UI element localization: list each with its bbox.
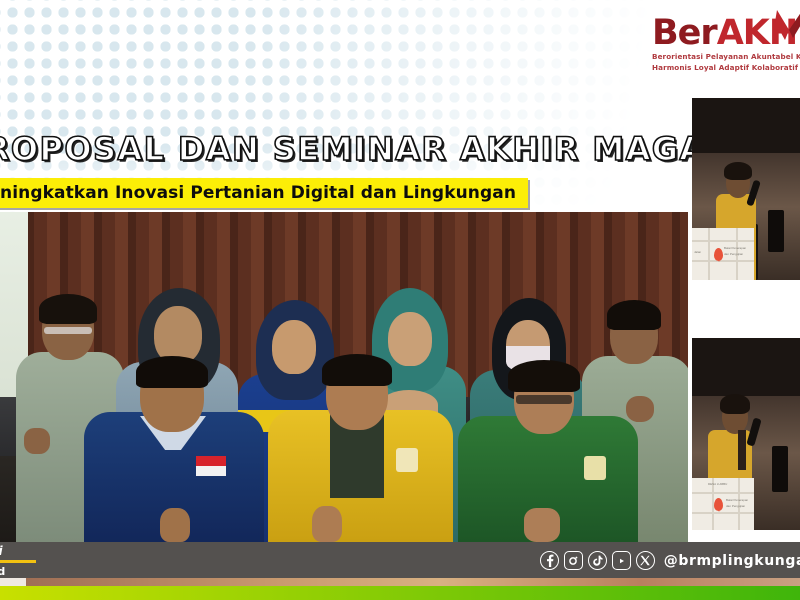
side-photo-top: Balai Penerapan dan Pengujian Jalan — [692, 98, 800, 280]
map-road — [692, 260, 754, 262]
person-7-thumbs-up — [160, 508, 190, 542]
side-photo-top-speaker-box — [768, 210, 784, 252]
person-1-fist — [24, 428, 50, 454]
youtube-icon[interactable] — [612, 551, 631, 570]
person-8-hair — [322, 354, 392, 386]
person-9-glasses — [516, 395, 572, 404]
person-7-hair — [136, 356, 208, 388]
map-pin-icon — [714, 498, 723, 511]
tiktok-icon[interactable] — [588, 551, 607, 570]
person-9-hair — [508, 360, 580, 392]
red-check-accent-icon — [775, 8, 800, 42]
map-road — [692, 512, 754, 514]
side-photo-top-upper-wall — [692, 98, 800, 153]
x-twitter-icon[interactable] — [636, 551, 655, 570]
footer-left-block: Hati go.id — [0, 544, 36, 578]
map-thumbnail-top: Balai Penerapan dan Pengujian Jalan — [692, 228, 754, 280]
person-9-hand-sign — [524, 508, 560, 542]
footer-tagline: Hati — [0, 544, 36, 558]
person-1-glasses — [44, 327, 92, 334]
person-9-logo-patch — [584, 456, 606, 480]
footer-warm-strip — [0, 578, 800, 586]
logo-tagline-line2: Harmonis Loyal Adaptif Kolaboratif — [652, 63, 800, 72]
map-label: dan Pengujian — [724, 252, 743, 256]
person-6-hair — [607, 300, 661, 330]
map-label: DESA LUMBU — [708, 482, 727, 486]
social-icon-row[interactable]: @brmplingkunga — [540, 551, 800, 570]
person-7-flag-patch — [196, 456, 226, 476]
footer-green-bar — [0, 586, 800, 600]
map-label: Balai Penerapan — [724, 246, 746, 250]
facebook-icon[interactable] — [540, 551, 559, 570]
subtitle-text: ningkatkan Inovasi Pertanian Digital dan… — [0, 183, 516, 203]
group-photo — [0, 212, 688, 542]
map-label: dan Pengujian — [726, 504, 745, 508]
person-8 — [268, 352, 453, 542]
logo-tagline-line1: Berorientasi Pelayanan Akuntabel Kompete… — [652, 52, 800, 61]
social-handle: @brmplingkunga — [664, 553, 800, 569]
person-8-thumbs-up — [312, 506, 342, 542]
map-label: Balai Penerapan — [726, 498, 748, 502]
subtitle-banner: ningkatkan Inovasi Pertanian Digital dan… — [0, 178, 528, 208]
side-photo-bottom-speaker-box — [772, 446, 788, 492]
map-thumbnail-bottom: DESA LUMBU Balai Penerapan dan Pengujian — [692, 478, 754, 530]
person-9 — [458, 360, 638, 542]
side-photo-bottom-upper-wall — [692, 338, 800, 396]
side-photo-bottom-tie — [738, 430, 746, 470]
footer-rule — [0, 560, 36, 563]
person-1-hair — [39, 294, 97, 324]
side-photo-top-speaker-hair — [724, 162, 752, 180]
side-photo-bottom-speaker-hair — [720, 394, 750, 414]
flyer-canvas: BerAKHLAK Berorientasi Pelayanan Akuntab… — [0, 0, 800, 600]
page-title: PROPOSAL DAN SEMINAR AKHIR MAGANG — [0, 129, 620, 169]
footer-left-white-notch — [0, 578, 26, 586]
logo-word-ber: Ber — [652, 13, 717, 53]
map-road — [692, 492, 754, 494]
instagram-icon[interactable] — [564, 551, 583, 570]
person-7 — [84, 357, 264, 542]
map-pin-icon — [714, 248, 723, 261]
map-road — [692, 240, 754, 242]
footer-website: go.id — [0, 565, 36, 578]
map-label: Jalan — [694, 250, 701, 254]
side-photo-bottom: DESA LUMBU Balai Penerapan dan Pengujian — [692, 338, 800, 530]
map-road — [708, 228, 710, 280]
person-8-logo-patch — [396, 448, 418, 472]
